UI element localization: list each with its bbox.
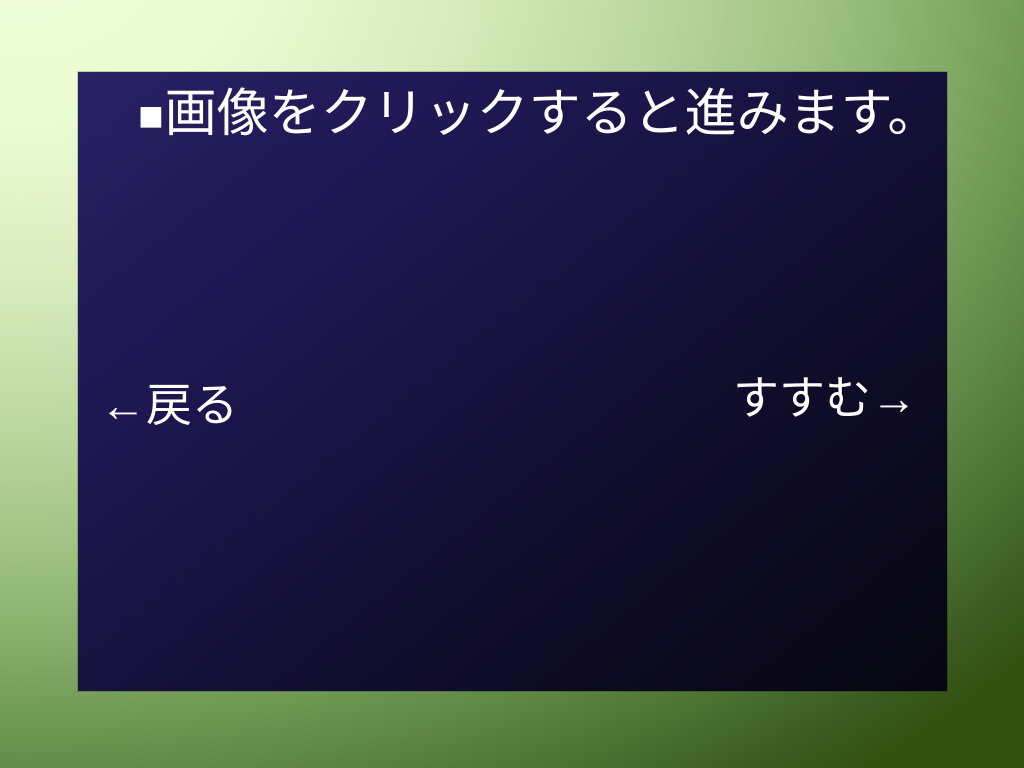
slide-viewer: ■画像をクリックすると進みます。 ←戻る すすむ→ xyxy=(0,0,1024,768)
bullet-square-icon: ■ xyxy=(138,91,164,141)
slide-canvas[interactable]: ■画像をクリックすると進みます。 ←戻る すすむ→ xyxy=(78,72,947,691)
page-title-text: 画像をクリックすると進みます。 xyxy=(165,85,940,143)
nav-prev-link[interactable]: ←戻る xyxy=(100,382,238,428)
page-title: ■画像をクリックすると進みます。 xyxy=(138,84,928,145)
nav-next-link[interactable]: すすむ→ xyxy=(733,375,917,421)
